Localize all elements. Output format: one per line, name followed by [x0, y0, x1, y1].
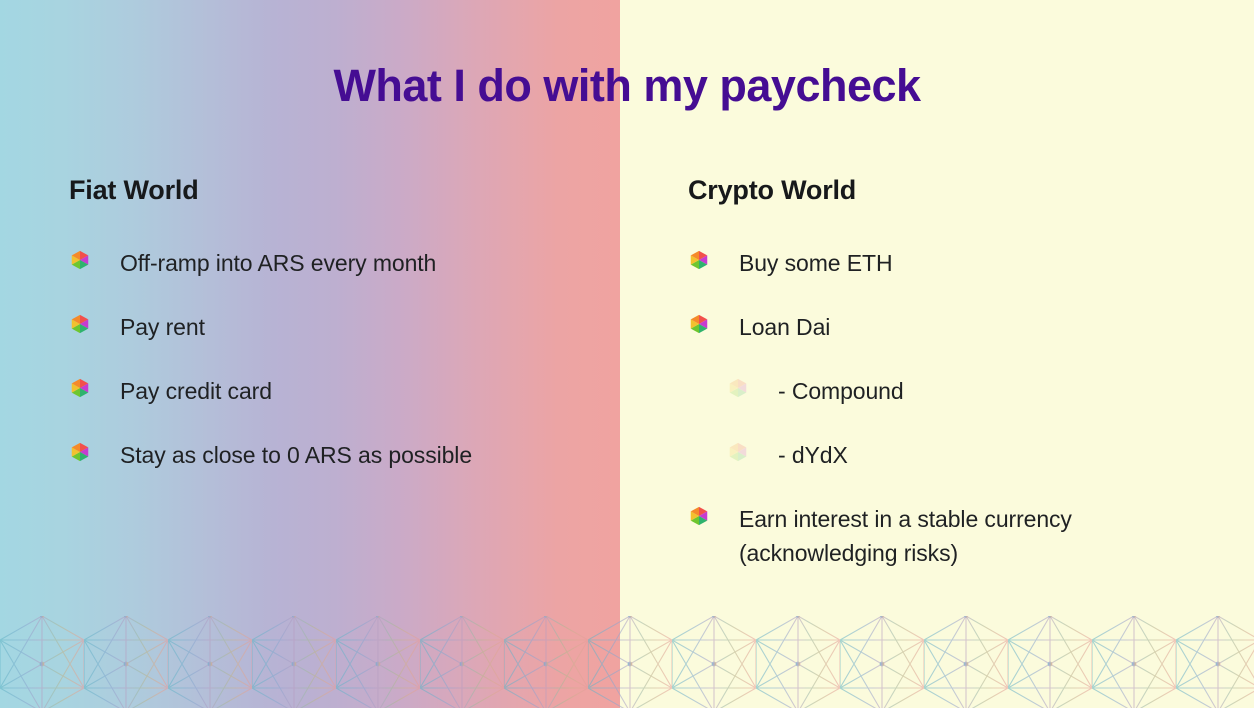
- rainbow-hexagon-cube-icon-faded: [727, 441, 749, 463]
- bullet-list-fiat: Off-ramp into ARS every month Pay rent: [69, 246, 609, 472]
- list-item-sub: - Compound: [727, 374, 1228, 408]
- list-item-label: Buy some ETH: [739, 246, 892, 280]
- column-heading: Crypto World: [688, 176, 1228, 206]
- list-item-label: Pay credit card: [120, 374, 272, 408]
- list-item: Off-ramp into ARS every month: [69, 246, 609, 280]
- rainbow-hexagon-cube-icon: [69, 249, 91, 271]
- column-crypto-world: Crypto World Buy some ETH: [688, 176, 1228, 570]
- slide: What I do with my paycheck Fiat World: [0, 0, 1254, 708]
- list-item-label: Stay as close to 0 ARS as possible: [120, 438, 472, 472]
- list-item: Buy some ETH: [688, 246, 1228, 280]
- list-item-label: - dYdX: [778, 438, 848, 472]
- rainbow-hexagon-cube-icon: [688, 249, 710, 271]
- slide-title: What I do with my paycheck: [0, 60, 1254, 112]
- column-heading: Fiat World: [69, 176, 609, 206]
- list-item: Pay credit card: [69, 374, 609, 408]
- list-item-label: Pay rent: [120, 310, 205, 344]
- bullet-list-crypto: Buy some ETH Loan Dai: [688, 246, 1228, 570]
- list-item-label: Off-ramp into ARS every month: [120, 246, 436, 280]
- list-item-label: Earn interest in a stable currency (ackn…: [739, 502, 1072, 570]
- list-item: Earn interest in a stable currency (ackn…: [688, 502, 1228, 570]
- rainbow-hexagon-cube-icon: [688, 505, 710, 527]
- list-item-sub: - dYdX: [727, 438, 1228, 472]
- rainbow-hexagon-cube-icon: [69, 441, 91, 463]
- rainbow-hexagon-cube-icon: [69, 313, 91, 335]
- list-item-label: Loan Dai: [739, 310, 830, 344]
- bottom-lattice-decoration: [0, 616, 1254, 708]
- rainbow-hexagon-cube-icon: [69, 377, 91, 399]
- list-item: Stay as close to 0 ARS as possible: [69, 438, 609, 472]
- list-item-label: - Compound: [778, 374, 904, 408]
- rainbow-hexagon-cube-icon-faded: [727, 377, 749, 399]
- rainbow-hexagon-cube-icon: [688, 313, 710, 335]
- list-item: Pay rent: [69, 310, 609, 344]
- list-item: Loan Dai: [688, 310, 1228, 344]
- column-fiat-world: Fiat World Off-ramp into ARS every month: [69, 176, 609, 472]
